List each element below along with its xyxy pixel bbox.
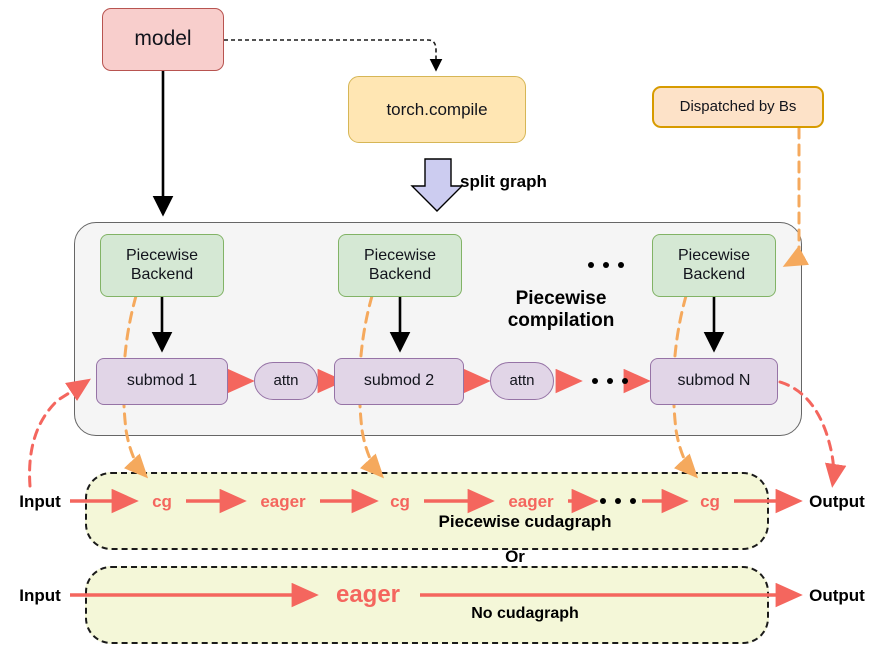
ellipsis-cudagraph-row: [600, 498, 636, 504]
label-output-bottom: Output: [800, 584, 874, 608]
edge-dispatch-to-backendn: [788, 128, 799, 264]
label-piecewise-compilation-line1: Piecewise: [516, 288, 607, 310]
node-torch-compile[interactable]: torch.compile: [348, 76, 526, 143]
label-eager-bottom: eager: [318, 580, 418, 610]
label-piecewise-compilation-line2: compilation: [508, 310, 615, 332]
label-input-bottom: Input: [4, 584, 76, 608]
label-no-cudagraph: No cudagraph: [400, 602, 650, 626]
edge-model-to-compile: [224, 40, 436, 70]
label-eager-2: eager: [496, 491, 566, 513]
node-piecewise-backend-1[interactable]: Piecewise Backend: [100, 234, 224, 297]
node-submod-2[interactable]: submod 2: [334, 358, 464, 405]
label-piecewise-compilation: Piecewise compilation: [466, 286, 656, 334]
label-cg-2: cg: [378, 491, 422, 513]
label-cg-1: cg: [140, 491, 184, 513]
diagram-canvas: model torch.compile Dispatched by Bs Pie…: [0, 0, 874, 663]
edge-submodn-to-output: [780, 382, 834, 482]
node-submod-1[interactable]: submod 1: [96, 358, 228, 405]
label-piecewise-cudagraph: Piecewise cudagraph: [400, 510, 650, 534]
node-model[interactable]: model: [102, 8, 224, 71]
node-attn-2[interactable]: attn: [490, 362, 554, 400]
node-dispatched-by-bs[interactable]: Dispatched by Bs: [652, 86, 824, 128]
label-eager-1: eager: [248, 491, 318, 513]
node-submod-n[interactable]: submod N: [650, 358, 778, 405]
node-piecewise-backend-2[interactable]: Piecewise Backend: [338, 234, 462, 297]
label-split-graph: split graph: [460, 170, 580, 194]
label-input-top: Input: [4, 490, 76, 514]
ellipsis-backend-row: [588, 262, 624, 268]
label-cg-3: cg: [688, 491, 732, 513]
node-piecewise-backend-n[interactable]: Piecewise Backend: [652, 234, 776, 297]
label-or: Or: [470, 545, 560, 569]
split-graph-arrow: [412, 159, 462, 211]
edge-input-to-submod1: [30, 382, 86, 486]
node-attn-1[interactable]: attn: [254, 362, 318, 400]
label-output-top: Output: [800, 490, 874, 514]
ellipsis-submod-row: [592, 378, 628, 384]
